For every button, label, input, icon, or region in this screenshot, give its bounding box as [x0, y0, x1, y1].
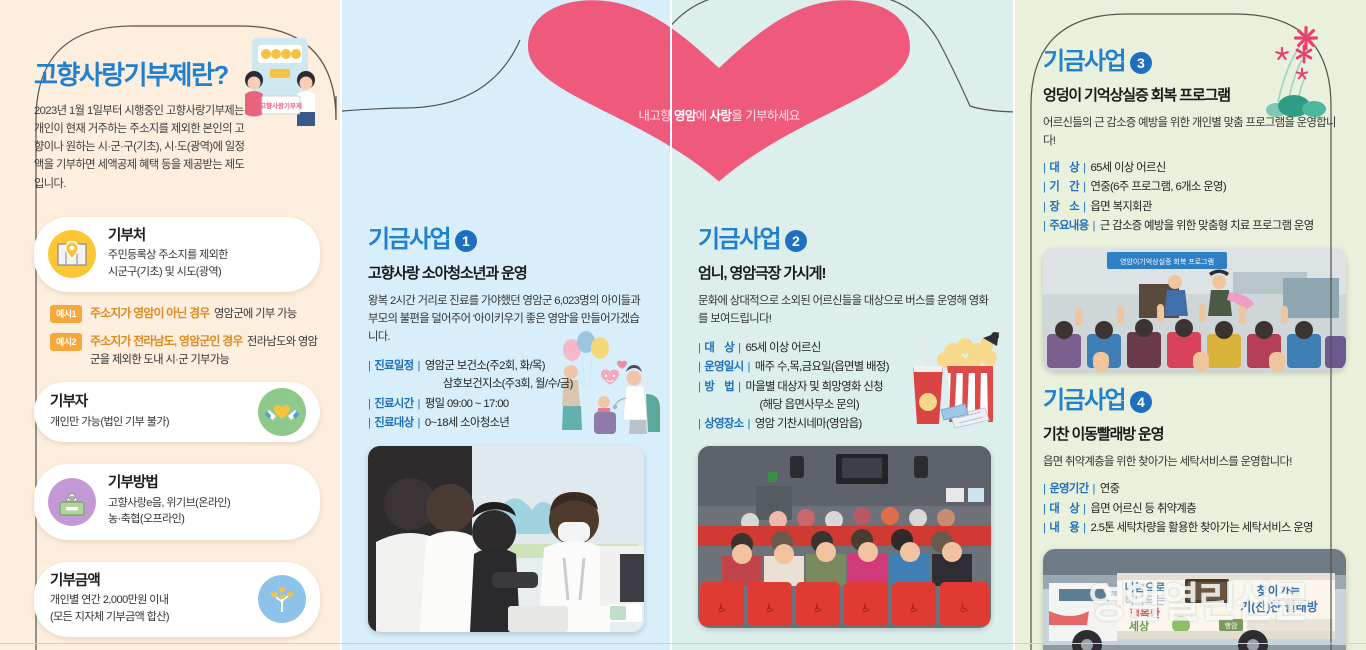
- fund-spec-list-2: 대 상 65세 이상 어르신 운영일시 매주 수,목,금요일(읍면별 배정) 방…: [698, 339, 991, 433]
- fund-number-badge: 2: [785, 230, 807, 252]
- fund-title-3: 기금사업 3: [1043, 50, 1346, 74]
- svg-text:♿: ♿: [909, 601, 920, 615]
- heart-tree-icon: [258, 575, 306, 623]
- spec-row: 진료일정 영암군 보건소(주2회, 화/목) 삼호보건지소(주3회, 월/수/금…: [368, 357, 644, 394]
- spec-value-cont: 삼호보건지소(주3회, 월/수/금): [425, 375, 644, 393]
- spec-value: 2.5톤 세탁차량을 활용한 찾아가는 세탁서비스 운영: [1090, 519, 1346, 537]
- spec-key: 운영일시: [698, 358, 755, 376]
- spec-value: 65세 이상 어르신: [1090, 159, 1346, 177]
- spec-row: 방 법 마을별 대상자 및 희망영화 신청 (해당 읍면사무소 문의): [698, 378, 991, 415]
- spec-key: 기 간: [1043, 178, 1090, 196]
- spec-value-cont: (해당 읍면사무소 문의): [745, 396, 991, 414]
- spec-value: 연중(6주 프로그램, 6개소 운영): [1090, 178, 1346, 196]
- card-line-1: 고향사랑e음, 위기브(온라인): [108, 495, 304, 511]
- spec-key: 상영장소: [698, 415, 755, 433]
- fund-spec-list-1: 진료일정 영암군 보건소(주2회, 화/목) 삼호보건지소(주3회, 월/수/금…: [368, 357, 644, 432]
- spec-value: 65세 이상 어르신: [745, 339, 991, 357]
- example-title: 주소지가 영암이 아닌 경우: [90, 306, 209, 320]
- spec-key: 진료시간: [368, 395, 425, 413]
- spec-value: 영암군 보건소(주2회, 화/목): [425, 360, 545, 372]
- card-heading: 기부자: [50, 394, 246, 411]
- donation-box-icon: ₩: [48, 478, 96, 526]
- svg-text:♿: ♿: [861, 601, 872, 615]
- svg-text:♿: ♿: [717, 601, 728, 615]
- spec-key: 대 상: [698, 339, 745, 357]
- card-heading: 기부금액: [50, 573, 246, 590]
- fund-section-1: 기금사업 1 고향사랑 소아청소년과 운영 왕복 2시간 거리로 진료를 가야했…: [340, 0, 670, 432]
- fund-section-3: 기금사업 3 엉덩이 기억상실증 회복 프로그램 어르신들의 근 감소증 예방을…: [1043, 50, 1346, 235]
- fund-subtitle-1: 고향사랑 소아청소년과 운영: [368, 265, 644, 283]
- fund-subtitle-3: 엉덩이 기억상실증 회복 프로그램: [1043, 87, 1346, 105]
- spec-row: 진료대상 0~18세 소아청소년: [368, 414, 644, 432]
- fund-label: 기금사업: [368, 228, 450, 252]
- truck-text-l3: 행복한: [1130, 606, 1160, 620]
- column-intro: 고향사랑기부제란? 2023년 1월 1일부터 시행중인 고향사랑기부제는 개인…: [0, 0, 340, 650]
- photo-banner-caption: 영암이기억상실증 회복 프로그램: [1120, 257, 1214, 266]
- svg-text:♿: ♿: [765, 601, 776, 615]
- fund-3-4-block: 기금사업 3 엉덩이 기억상실증 회복 프로그램 어르신들의 근 감소증 예방을…: [1013, 0, 1366, 650]
- spec-key: 내 용: [1043, 519, 1090, 537]
- fund-label: 기금사업: [1043, 50, 1125, 74]
- intro-block: 고향사랑기부제란? 2023년 1월 1일부터 시행중인 고향사랑기부제는 개인…: [0, 0, 340, 193]
- card-heading: 기부처: [108, 228, 304, 245]
- fund-title-2: 기금사업 2: [698, 228, 991, 252]
- example-list: 예시1 주소지가 영암이 아닌 경우 영암군에 기부 가능 예시2 주소지가 전…: [50, 304, 320, 368]
- hands-holding-heart-icon: [258, 388, 306, 436]
- example-tag: 예시1: [50, 305, 82, 323]
- bottom-divider: [0, 643, 1366, 644]
- mobile-laundry-truck-photo: 나눔으로 하나되는 행복한 세상 찾아가는 기(찬)찬 빨래방 행암: [1043, 549, 1346, 650]
- intro-body: 2023년 1월 1일부터 시행중인 고향사랑기부제는 개인이 현재 거주하는 …: [34, 102, 249, 193]
- spec-row: 운영기간 연중: [1043, 480, 1346, 498]
- info-card-donation-amount[interactable]: 기부금액 개인별 연간 2,000만원 이내 (모든 지자체 기부금액 합산): [34, 562, 320, 637]
- fund-subtitle-4: 기찬 이동빨래방 운영: [1043, 426, 1346, 444]
- spec-key: 주요내용: [1043, 217, 1100, 235]
- spec-row: 대 상 읍면 어르신 등 취약계층: [1043, 500, 1346, 518]
- spec-value: 근 감소증 예방을 위한 맞춤형 치료 프로그램 운영: [1100, 217, 1346, 235]
- fund-spec-list-4: 운영기간 연중 대 상 읍면 어르신 등 취약계층 내 용 2.5톤 세탁차량을…: [1043, 480, 1346, 537]
- info-card-donation-place[interactable]: 기부처 주민등록상 주소지를 제외한 시군구(기초) 및 시도(광역): [34, 217, 320, 292]
- spec-value: 읍면 복지회관: [1090, 198, 1346, 216]
- spec-row: 운영일시 매주 수,목,금요일(읍면별 배정): [698, 358, 991, 376]
- info-card-donor[interactable]: 기부자 개인만 가능(법인 기부 불가): [34, 382, 320, 442]
- spec-key: 진료일정: [368, 357, 425, 375]
- spec-row: 진료시간 평일 09:00 ~ 17:00: [368, 395, 644, 413]
- fund-description-4: 읍면 취약계층을 위한 찾아가는 세탁서비스를 운영합니다!: [1043, 453, 1346, 471]
- info-card-list: 기부처 주민등록상 주소지를 제외한 시군구(기초) 및 시도(광역) 예시1 …: [0, 217, 340, 637]
- fund-number-badge: 3: [1130, 52, 1152, 74]
- column-fund-3-4: 기금사업 3 엉덩이 기억상실증 회복 프로그램 어르신들의 근 감소증 예방을…: [1013, 0, 1366, 650]
- column-fund-2: 기금사업 2 엄니, 영암극장 가시게! 문화에 상대적으로 소외된 어르신들을…: [670, 0, 1013, 650]
- card-line-1: 주민등록상 주소지를 제외한: [108, 247, 304, 263]
- fund-subtitle-2: 엄니, 영암극장 가시게!: [698, 265, 991, 283]
- spec-row: 내 용 2.5톤 세탁차량을 활용한 찾아가는 세탁서비스 운영: [1043, 519, 1346, 537]
- cinema-audience-photo: ♿♿♿ ♿♿♿: [698, 446, 991, 628]
- pediatric-clinic-photo: [368, 446, 644, 632]
- spec-row: 기 간 연중(6주 프로그램, 6개소 운영): [1043, 178, 1346, 196]
- spec-key: 방 법: [698, 378, 745, 396]
- svg-text:₩: ₩: [70, 495, 75, 500]
- fund-description-1: 왕복 2시간 거리로 진료를 가야했던 영암군 6,023명의 아이들과 부모의…: [368, 292, 644, 346]
- heart-text-bold-2: 사랑: [710, 109, 732, 123]
- heart-text-mid: 에: [696, 109, 710, 123]
- spec-row: 대 상 65세 이상 어르신: [698, 339, 991, 357]
- illustration-label: 고향사랑기부제: [260, 101, 302, 110]
- spec-value: 0~18세 소아청소년: [425, 414, 644, 432]
- card-line-2: (모든 지자체 기부금액 합산): [50, 609, 246, 625]
- spec-row: 장 소 읍면 복지회관: [1043, 198, 1346, 216]
- fund-spec-list-3: 대 상 65세 이상 어르신 기 간 연중(6주 프로그램, 6개소 운영) 장…: [1043, 159, 1346, 235]
- spec-value: 평일 09:00 ~ 17:00: [425, 395, 644, 413]
- example-tag: 예시2: [50, 333, 82, 351]
- spec-value: 매주 수,목,금요일(읍면별 배정): [755, 358, 991, 376]
- spec-value: 영암 기찬시네마(영암읍): [755, 415, 991, 433]
- fund-title-4: 기금사업 4: [1043, 389, 1346, 413]
- map-pin-icon: [48, 230, 96, 278]
- info-card-donation-method[interactable]: ₩ 기부방법 고향사랑e음, 위기브(온라인) 농·축협(오프라인): [34, 464, 320, 539]
- svg-text:♿: ♿: [813, 601, 824, 615]
- spec-key: 대 상: [1043, 159, 1090, 177]
- fund-number-badge: 1: [455, 230, 477, 252]
- fund-title-1: 기금사업 1: [368, 228, 644, 252]
- fund-description-2: 문화에 상대적으로 소외된 어르신들을 대상으로 버스를 운영해 영화를 보여드…: [698, 292, 991, 328]
- truck-text-r2: 기(찬)찬 빨래방: [1240, 599, 1318, 614]
- truck-text-l2: 하나되는: [1125, 593, 1165, 607]
- card-line-2: 농·축협(오프라인): [108, 511, 304, 527]
- truck-text-l4: 세상: [1129, 619, 1149, 633]
- card-heading: 기부방법: [108, 475, 304, 492]
- spec-key: 장 소: [1043, 198, 1090, 216]
- spec-key: 대 상: [1043, 500, 1090, 518]
- truck-text-l1: 나눔으로: [1125, 580, 1165, 594]
- svg-text:♿: ♿: [959, 601, 970, 615]
- spec-row: 주요내용 근 감소증 예방을 위한 맞춤형 치료 프로그램 운영: [1043, 217, 1346, 235]
- heart-text-prefix: 내고향: [638, 109, 674, 123]
- card-line-1: 개인별 연간 2,000만원 이내: [50, 592, 246, 608]
- spec-value: 연중: [1100, 480, 1346, 498]
- fund-description-3: 어르신들의 근 감소증 예방을 위한 개인별 맞춤 프로그램을 운영합니다!: [1043, 114, 1346, 150]
- truck-text-r1: 찾아가는: [1257, 583, 1301, 598]
- card-line-2: 시군구(기초) 및 시도(광역): [108, 264, 304, 280]
- fund-number-badge: 4: [1130, 391, 1152, 413]
- fund-section-4: 기금사업 4 기찬 이동빨래방 운영 읍면 취약계층을 위한 찾아가는 세탁서비…: [1043, 389, 1346, 537]
- senior-exercise-program-photo: 영암이기억상실증 회복 프로그램: [1043, 248, 1346, 371]
- donation-box-with-people-illustration: 고향사랑기부제: [224, 36, 334, 128]
- example-item-1: 예시1 주소지가 영암이 아닌 경우 영암군에 기부 가능: [50, 304, 320, 323]
- fund-section-2: 기금사업 2 엄니, 영암극장 가시게! 문화에 상대적으로 소외된 어르신들을…: [670, 0, 1013, 434]
- fund-label: 기금사업: [698, 228, 780, 252]
- spec-value: 읍면 어르신 등 취약계층: [1090, 500, 1346, 518]
- spec-key: 운영기간: [1043, 480, 1100, 498]
- heart-banner-text: 내고향 영암에 사랑을 기부하세요: [638, 105, 799, 124]
- column-fund-1: 기금사업 1 고향사랑 소아청소년과 운영 왕복 2시간 거리로 진료를 가야했…: [340, 0, 670, 650]
- example-detail: 영암군에 기부 가능: [214, 308, 297, 320]
- spec-row: 대 상 65세 이상 어르신: [1043, 159, 1346, 177]
- heart-text-suffix: 을 기부하세요: [731, 109, 799, 123]
- truck-text-brand: 행암: [1225, 621, 1238, 630]
- card-line-1: 개인만 가능(법인 기부 불가): [50, 414, 246, 430]
- brochure-page: 고향사랑기부제란? 2023년 1월 1일부터 시행중인 고향사랑기부제는 개인…: [0, 0, 1366, 650]
- spec-value: 마을별 대상자 및 희망영화 신청: [745, 381, 882, 393]
- example-title: 주소지가 전라남도, 영암군인 경우: [90, 334, 242, 348]
- example-item-2: 예시2 주소지가 전라남도, 영암군인 경우 전라남도와 영암군을 제외한 도내…: [50, 332, 320, 368]
- fund-label: 기금사업: [1043, 389, 1125, 413]
- spec-row: 상영장소 영암 기찬시네마(영암읍): [698, 415, 991, 433]
- heart-text-bold-1: 영암: [674, 109, 696, 123]
- spec-key: 진료대상: [368, 414, 425, 432]
